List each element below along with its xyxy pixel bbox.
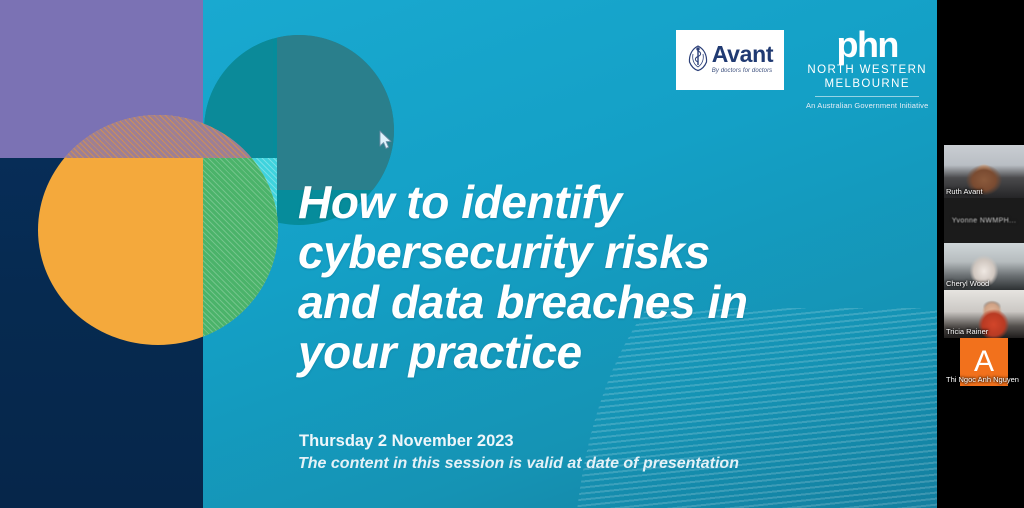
participant-tile-4[interactable]: A Thi Ngoc Anh Nguyen xyxy=(944,338,1024,386)
mouse-pointer-icon xyxy=(379,130,393,150)
screen: Avant By doctors for doctors phn NORTH W… xyxy=(0,0,1024,508)
participant-name: Tricia Rainer xyxy=(946,327,988,336)
phn-region-line-2: MELBOURNE xyxy=(824,78,909,91)
participant-name: Cheryl Wood xyxy=(946,279,989,288)
participant-tile-1[interactable]: Yvonne NWMPH... xyxy=(944,198,1024,243)
phn-initiative-line: An Australian Government Initiative xyxy=(806,101,928,110)
panel-gutter xyxy=(937,0,944,508)
participant-tile-0[interactable]: Ruth Avant xyxy=(944,145,1024,198)
phn-wordmark: phn xyxy=(836,30,897,60)
phn-region-line-1: NORTH WESTERN xyxy=(807,64,927,77)
participant-name: Yvonne NWMPH... xyxy=(944,217,1024,224)
avant-logo: Avant By doctors for doctors xyxy=(676,30,784,90)
logo-row: Avant By doctors for doctors phn NORTH W… xyxy=(676,30,928,110)
participant-name: Ruth Avant xyxy=(946,187,983,196)
phn-divider xyxy=(815,96,919,97)
participant-tile-3[interactable]: Tricia Rainer xyxy=(944,290,1024,338)
avant-tagline: By doctors for doctors xyxy=(712,68,773,74)
slide-date: Thursday 2 November 2023 xyxy=(299,432,514,451)
participant-tile-2[interactable]: Cheryl Wood xyxy=(944,243,1024,290)
slide-title: How to identify cybersecurity risks and … xyxy=(298,177,768,378)
avatar-initial: A xyxy=(974,347,994,377)
presentation-slide: Avant By doctors for doctors phn NORTH W… xyxy=(0,0,937,508)
participant-name: Thi Ngoc Anh Nguyen xyxy=(946,375,1019,384)
slide-validity-note: The content in this session is valid at … xyxy=(298,455,739,473)
participant-video-panel[interactable]: Ruth Avant Yvonne NWMPH... Cheryl Wood T… xyxy=(937,0,1024,508)
phn-logo: phn NORTH WESTERN MELBOURNE An Australia… xyxy=(806,30,928,110)
avant-wordmark: Avant xyxy=(712,43,774,66)
wreath-caduceus-icon xyxy=(687,44,709,72)
